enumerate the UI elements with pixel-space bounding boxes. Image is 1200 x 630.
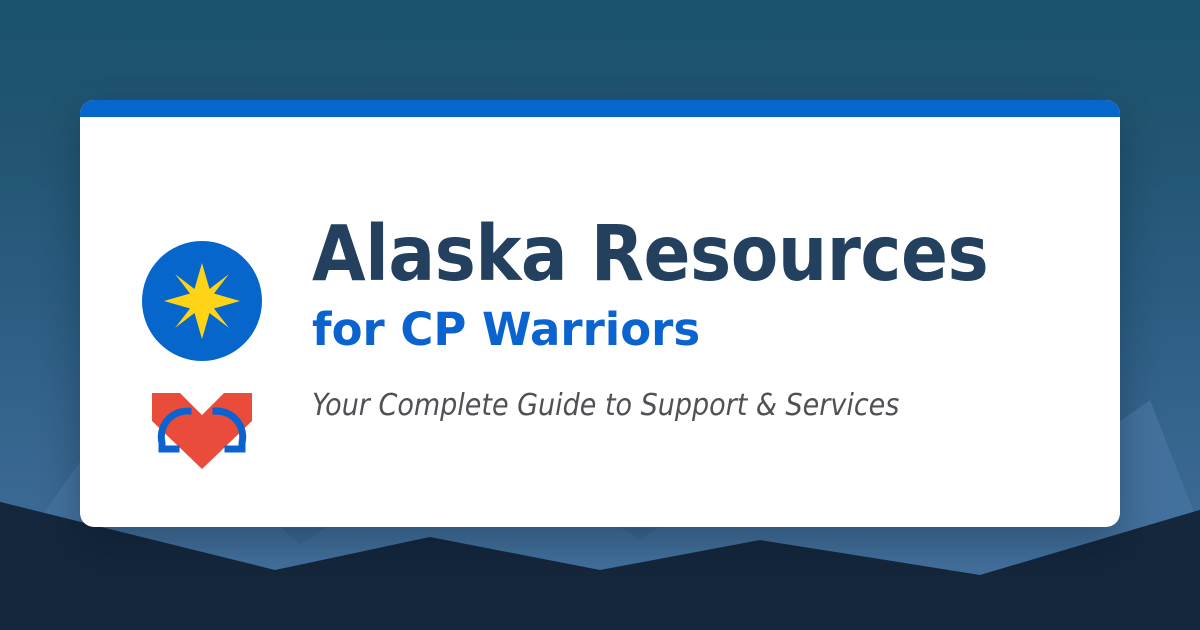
page-tagline: Your Complete Guide to Support & Service… <box>312 387 1102 425</box>
card-accent-bar <box>80 100 1120 117</box>
page-subtitle: for CP Warriors <box>312 303 1102 357</box>
supportive-heart-icon <box>152 393 252 469</box>
hero-card: Alaska Resources for CP Warriors Your Co… <box>80 100 1120 527</box>
hero-banner: Alaska Resources for CP Warriors Your Co… <box>0 0 1200 630</box>
card-body: Alaska Resources for CP Warriors Your Co… <box>80 117 1120 527</box>
star-badge-icon <box>142 241 262 361</box>
headline-group: Alaska Resources for CP Warriors Your Co… <box>312 213 1102 425</box>
page-title: Alaska Resources <box>312 213 1102 297</box>
